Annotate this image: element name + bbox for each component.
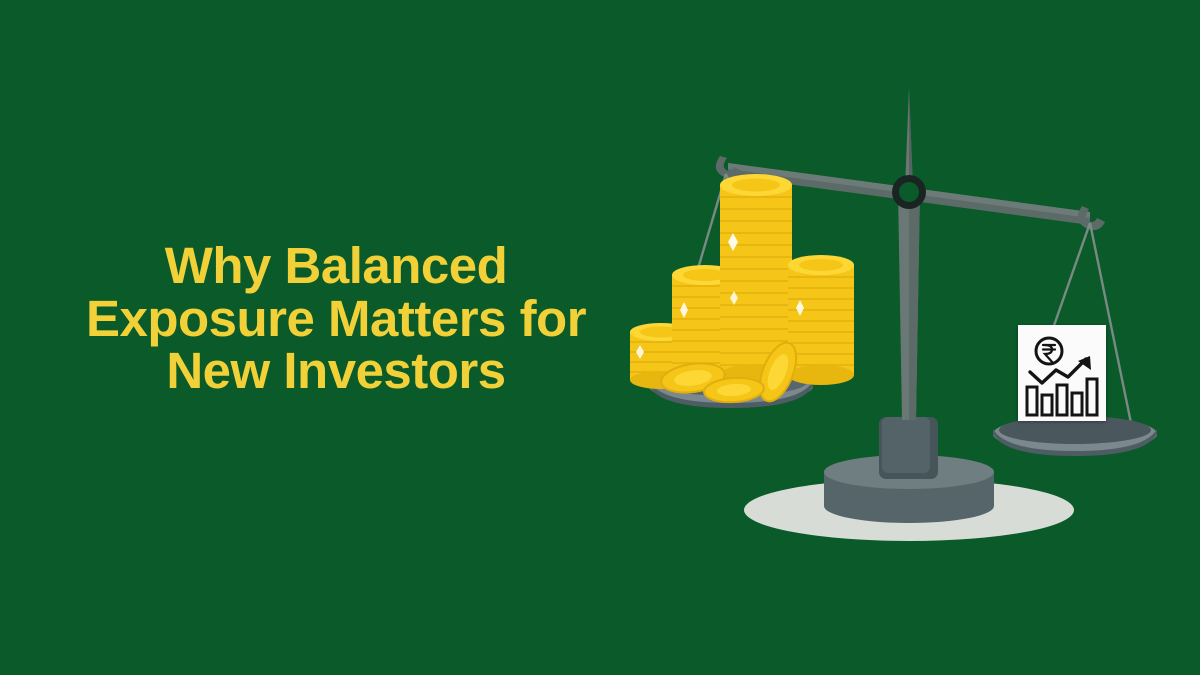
bar-2	[1042, 395, 1052, 415]
trend-arrow-icon	[1030, 359, 1086, 383]
base-block	[879, 417, 938, 479]
pivot-ring	[892, 175, 926, 209]
title-line-1: Why Balanced	[0, 240, 672, 293]
right-pan	[993, 416, 1157, 456]
page-title: Why Balanced Exposure Matters for New In…	[0, 240, 672, 398]
balance-scale-illustration	[620, 60, 1200, 620]
title-line-3: New Investors	[0, 345, 672, 398]
center-post	[898, 190, 920, 420]
title-line-2: Exposure Matters for	[0, 293, 672, 346]
chart-card	[1018, 325, 1106, 421]
bar-chart-icon	[1027, 379, 1097, 415]
bar-4	[1072, 393, 1082, 415]
rupee-icon	[1036, 338, 1062, 364]
coin-stack-right	[788, 255, 854, 385]
bar-1	[1027, 387, 1037, 415]
banner-canvas: Why Balanced Exposure Matters for New In…	[0, 0, 1200, 675]
bar-5	[1087, 379, 1097, 415]
pointer-needle	[905, 88, 913, 188]
coin-stacks	[630, 174, 854, 406]
bar-3	[1057, 385, 1067, 415]
